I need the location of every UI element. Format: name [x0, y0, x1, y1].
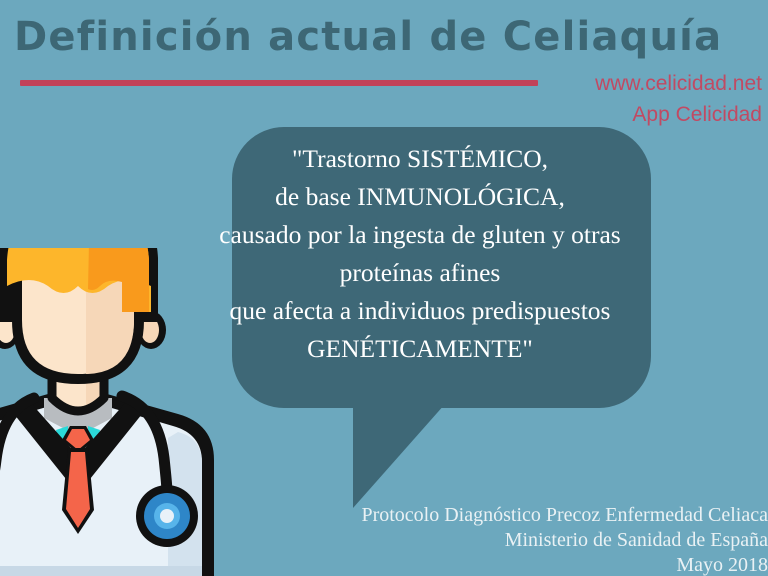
attribution-line-protocol: Protocolo Diagnóstico Precoz Enfermedad … — [248, 503, 768, 528]
page-title: Definición actual de Celiaquía — [14, 14, 768, 60]
doctor-illustration — [0, 248, 232, 576]
quote-line-1: "Trastorno SISTÉMICO, — [150, 140, 690, 178]
attribution-line-date: Mayo 2018 — [248, 553, 768, 576]
brand-website[interactable]: www.celicidad.net — [462, 68, 762, 99]
infographic-canvas: Definición actual de Celiaquía www.celic… — [0, 0, 768, 576]
quote-line-2: de base INMUNOLÓGICA, — [150, 178, 690, 216]
brand-app: App Celicidad — [462, 99, 762, 130]
speech-bubble-tail — [353, 404, 445, 508]
source-attribution: Protocolo Diagnóstico Precoz Enfermedad … — [248, 503, 768, 576]
stethoscope-chestpiece-icon — [136, 485, 198, 547]
title-underline-rule — [20, 80, 538, 86]
brand-block: www.celicidad.net App Celicidad — [462, 68, 762, 130]
attribution-line-ministry: Ministerio de Sanidad de España — [248, 528, 768, 553]
